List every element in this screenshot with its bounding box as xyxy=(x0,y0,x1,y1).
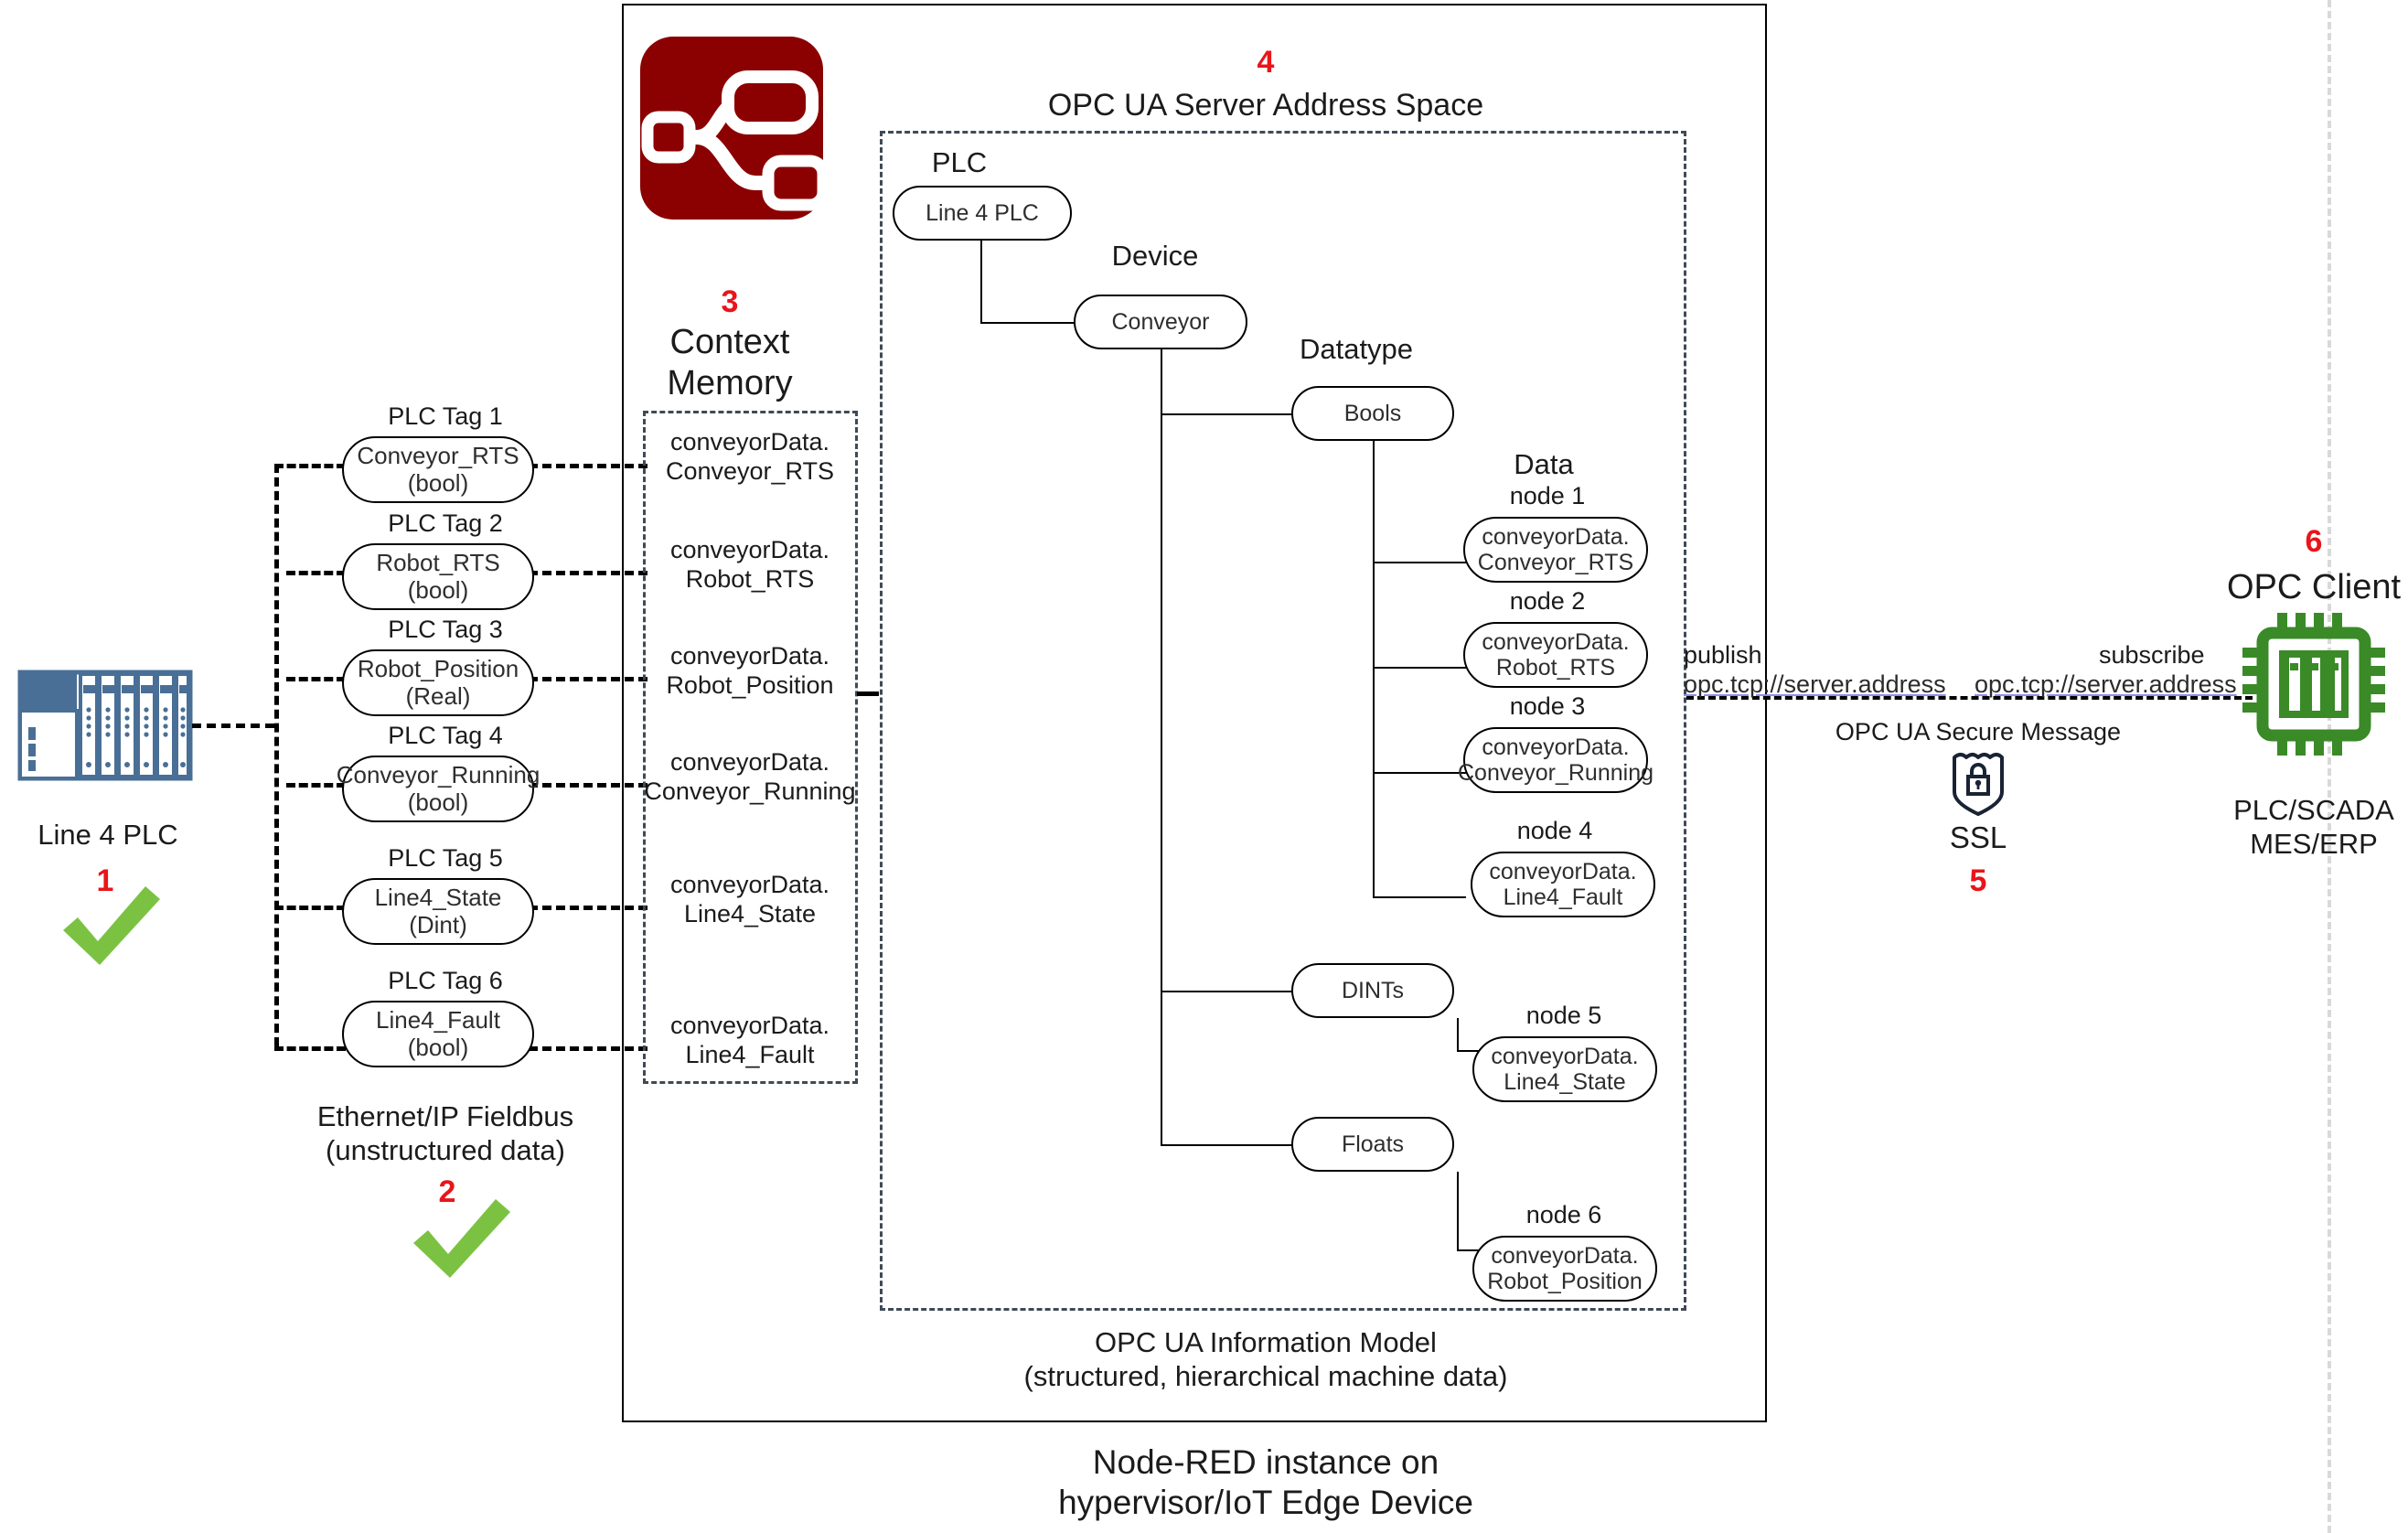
ssl-label: SSL xyxy=(1950,820,2007,856)
address-space-plc-node[interactable]: Line 4 PLC xyxy=(893,186,1072,241)
context-memory-title: Context Memory xyxy=(667,322,792,404)
data-node-6[interactable]: conveyorData. Robot_Position xyxy=(1472,1236,1657,1302)
plc-tag-caption-4: PLC Tag 4 xyxy=(388,722,503,751)
cpu-chip-icon xyxy=(2242,613,2385,756)
plc-tag-name-3: Robot_Position xyxy=(358,655,519,682)
step-3-marker: 3 xyxy=(722,284,739,320)
plc-tag-type-4: (bool) xyxy=(408,788,468,816)
step-4-marker: 4 xyxy=(1258,44,1275,80)
level-label-device: Device xyxy=(1112,240,1199,273)
plc-tag-type-1: (bool) xyxy=(408,469,468,497)
level-label-datatype: Datatype xyxy=(1300,333,1413,367)
plc-tag-type-6: (bool) xyxy=(408,1034,468,1061)
node-red-instance-caption: Node-RED instance on hypervisor/IoT Edge… xyxy=(1058,1442,1473,1522)
tree-line-plc-down xyxy=(980,241,982,323)
data-node-2[interactable]: conveyorData. Robot_RTS xyxy=(1463,622,1648,688)
tree-line-conveyor-to-bools xyxy=(1161,413,1294,415)
context-memory-entry-1: conveyorData. Conveyor_RTS xyxy=(666,428,834,487)
fieldbus-label: Ethernet/IP Fieldbus (unstructured data) xyxy=(317,1100,573,1167)
step-2-check-icon xyxy=(408,1195,513,1282)
line4-plc-label: Line 4 PLC xyxy=(37,819,177,852)
plc-tag-caption-6: PLC Tag 6 xyxy=(388,967,503,996)
data-node-caption-6: node 6 xyxy=(1526,1201,1602,1230)
step-5-marker: 5 xyxy=(1970,863,1987,899)
tag-to-memory-4 xyxy=(529,783,647,788)
level-label-data: Data xyxy=(1514,448,1573,482)
page-guide-line xyxy=(2328,0,2331,1533)
opc-ua-server-title: OPC UA Server Address Space xyxy=(1048,87,1483,123)
information-model-caption: OPC UA Information Model (structured, hi… xyxy=(1024,1326,1508,1393)
opc-client-subtitle: PLC/SCADA MES/ERP xyxy=(2233,794,2394,861)
plc-tag-name-2: Robot_RTS xyxy=(376,549,499,576)
address-space-device-node[interactable]: Conveyor xyxy=(1074,295,1247,349)
level-label-plc: PLC xyxy=(932,146,987,180)
tree-line-dints-trunk xyxy=(1457,1018,1459,1051)
data-node-5[interactable]: conveyorData. Line4_State xyxy=(1472,1036,1657,1102)
datatype-node-bools[interactable]: Bools xyxy=(1291,386,1454,441)
fieldbus-stub-line xyxy=(192,724,274,728)
data-node-caption-3: node 3 xyxy=(1510,692,1586,722)
tree-line-conveyor-to-floats xyxy=(1161,1144,1294,1146)
tag-to-memory-2 xyxy=(529,571,647,575)
plc-tag-caption-1: PLC Tag 1 xyxy=(388,402,503,432)
tree-line-bools-to-node1 xyxy=(1373,562,1466,563)
tree-line-bools-to-node3 xyxy=(1373,772,1466,774)
line4-plc-icon xyxy=(18,670,192,780)
step-6-marker: 6 xyxy=(2306,523,2323,560)
data-node-caption-4: node 4 xyxy=(1517,817,1593,846)
data-node-caption-2: node 2 xyxy=(1510,587,1586,616)
publish-address: opc.tcp://server.address xyxy=(1684,670,1946,700)
context-memory-entry-4: conveyorData. Conveyor_Running xyxy=(644,748,855,807)
data-node-3[interactable]: conveyorData. Conveyor_Running xyxy=(1463,727,1648,793)
fieldbus-branch-3 xyxy=(286,677,346,681)
tree-line-floats-trunk xyxy=(1457,1172,1459,1250)
context-memory-box xyxy=(643,411,858,1084)
shield-lock-icon xyxy=(1949,748,2007,816)
plc-tag-name-6: Line4_Fault xyxy=(376,1006,500,1034)
memory-to-server-connector xyxy=(857,691,879,696)
plc-tag-type-2: (bool) xyxy=(408,576,468,604)
plc-tag-node-4[interactable]: Conveyor_Running (bool) xyxy=(342,756,534,822)
plc-tag-node-5[interactable]: Line4_State (Dint) xyxy=(342,878,534,945)
subscribe-address: opc.tcp://server.address xyxy=(1975,670,2237,700)
plc-tag-name-5: Line4_State xyxy=(375,884,502,911)
plc-tag-type-5: (Dint) xyxy=(409,911,467,938)
fieldbus-branch-6 xyxy=(274,1046,346,1051)
plc-tag-type-3: (Real) xyxy=(406,682,471,710)
plc-tag-name-4: Conveyor_Running xyxy=(337,761,540,788)
plc-tag-node-3[interactable]: Robot_Position (Real) xyxy=(342,649,534,716)
data-node-1[interactable]: conveyorData. Conveyor_RTS xyxy=(1463,517,1648,583)
tag-to-memory-3 xyxy=(529,677,647,681)
plc-tag-node-6[interactable]: Line4_Fault (bool) xyxy=(342,1001,534,1067)
node-red-logo-icon xyxy=(640,37,823,220)
data-node-caption-1: node 1 xyxy=(1510,482,1586,511)
plc-tag-caption-2: PLC Tag 2 xyxy=(388,509,503,539)
context-memory-entry-3: conveyorData. Robot_Position xyxy=(666,642,833,701)
tree-line-bools-to-node4 xyxy=(1373,896,1466,898)
step-1-check-icon xyxy=(58,883,163,970)
context-memory-entry-2: conveyorData. Robot_RTS xyxy=(670,536,829,595)
tag-to-memory-5 xyxy=(529,906,647,910)
data-node-4[interactable]: conveyorData. Line4_Fault xyxy=(1471,852,1655,917)
tree-line-plc-to-conveyor xyxy=(980,322,1076,324)
fieldbus-branch-5 xyxy=(274,906,346,910)
plc-tag-caption-3: PLC Tag 3 xyxy=(388,616,503,645)
plc-tag-caption-5: PLC Tag 5 xyxy=(388,844,503,874)
tag-to-memory-6 xyxy=(529,1046,647,1051)
datatype-node-floats[interactable]: Floats xyxy=(1291,1117,1454,1172)
tree-line-bools-to-node2 xyxy=(1373,667,1466,669)
subscribe-label: subscribe xyxy=(2099,641,2205,670)
tag-to-memory-1 xyxy=(529,464,647,468)
plc-tag-node-2[interactable]: Robot_RTS (bool) xyxy=(342,543,534,610)
plc-tag-node-1[interactable]: Conveyor_RTS (bool) xyxy=(342,436,534,503)
diagram-canvas: Line 4 PLC 1 PLC Tag 1 Conveyor_RTS (boo… xyxy=(0,0,2408,1533)
publish-label: publish xyxy=(1684,641,1762,670)
tree-line-conveyor-trunk xyxy=(1161,349,1162,1145)
context-memory-entry-5: conveyorData. Line4_State xyxy=(670,871,829,929)
opc-client-title: OPC Client xyxy=(2227,567,2401,608)
fieldbus-branch-2 xyxy=(286,571,346,575)
context-memory-entry-6: conveyorData. Line4_Fault xyxy=(670,1012,829,1070)
tree-line-conveyor-to-dints xyxy=(1161,991,1294,992)
data-node-caption-5: node 5 xyxy=(1526,1002,1602,1031)
tree-line-bools-trunk xyxy=(1373,441,1375,898)
secure-message-label: OPC UA Secure Message xyxy=(1835,718,2121,747)
fieldbus-branch-1 xyxy=(274,464,346,468)
fieldbus-trunk-line xyxy=(274,464,279,1046)
datatype-node-dints[interactable]: DINTs xyxy=(1291,963,1454,1018)
plc-tag-name-1: Conveyor_RTS xyxy=(357,442,519,469)
